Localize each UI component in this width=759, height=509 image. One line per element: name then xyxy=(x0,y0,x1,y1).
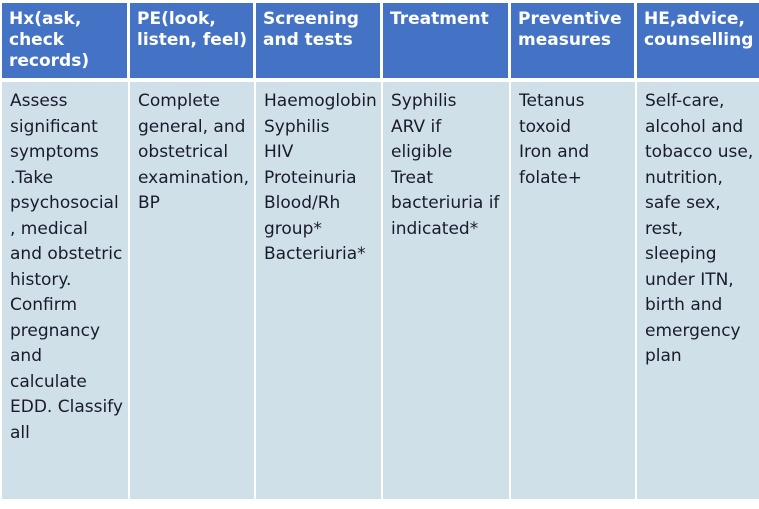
column-header-hx: Hx(ask, check records) xyxy=(2,3,130,82)
cell-pe: Complete general, and obstetrical examin… xyxy=(130,82,256,499)
cell-hx: Assess significant symptoms .Take psycho… xyxy=(2,82,130,499)
cell-hx-text: Assess significant symptoms .Take psycho… xyxy=(10,89,124,446)
column-header-screening: Screening and tests xyxy=(256,3,383,82)
cell-screening: Haemoglobin Syphilis HIV Proteinuria Blo… xyxy=(256,82,383,499)
column-header-preventive: Preventive measures xyxy=(511,3,637,82)
column-header-pe: PE(look, listen, feel) xyxy=(130,3,256,82)
cell-treatment-text: Syphilis ARV if eligible Treat bacteriur… xyxy=(391,89,505,242)
cell-screening-text: Haemoglobin Syphilis HIV Proteinuria Blo… xyxy=(264,89,377,268)
header-row: Hx(ask, check records) PE(look, listen, … xyxy=(2,3,759,82)
cell-preventive-text: Tetanus toxoid Iron and folate+ xyxy=(519,89,631,191)
cell-he-text: Self-care, alcohol and tobacco use, nutr… xyxy=(645,89,755,370)
column-header-treatment: Treatment xyxy=(383,3,511,82)
table-header: Hx(ask, check records) PE(look, listen, … xyxy=(2,3,759,82)
cell-preventive: Tetanus toxoid Iron and folate+ xyxy=(511,82,637,499)
antenatal-care-table: Hx(ask, check records) PE(look, listen, … xyxy=(2,3,759,499)
table-body: Assess significant symptoms .Take psycho… xyxy=(2,82,759,499)
table-row: Assess significant symptoms .Take psycho… xyxy=(2,82,759,499)
column-header-he: HE,advice, counselling xyxy=(637,3,759,82)
cell-treatment: Syphilis ARV if eligible Treat bacteriur… xyxy=(383,82,511,499)
cell-pe-text: Complete general, and obstetrical examin… xyxy=(138,89,250,217)
table-container: Hx(ask, check records) PE(look, listen, … xyxy=(0,0,759,509)
cell-he: Self-care, alcohol and tobacco use, nutr… xyxy=(637,82,759,499)
